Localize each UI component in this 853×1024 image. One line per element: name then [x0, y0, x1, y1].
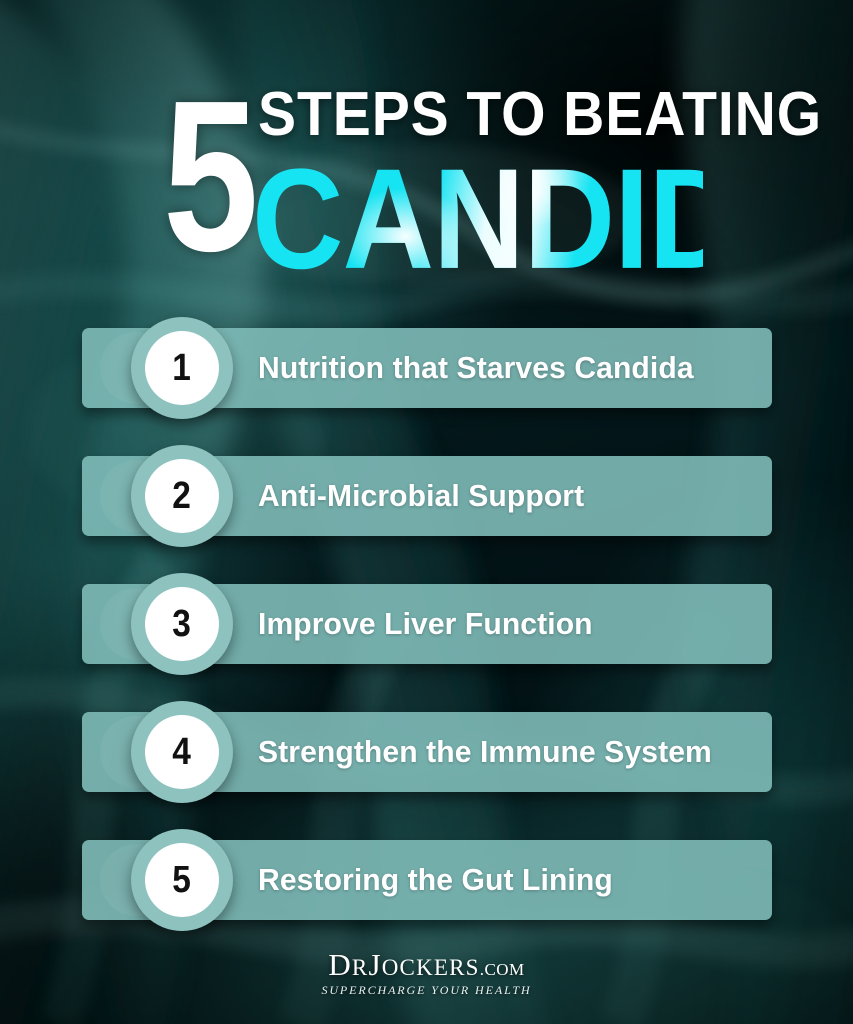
step-row[interactable]: 1 Nutrition that Starves Candida [0, 328, 853, 408]
brand-letters-ockers: OCKERS [382, 955, 480, 980]
step-number: 1 [173, 349, 192, 387]
step-row[interactable]: 4 Strengthen the Immune System [0, 712, 853, 792]
brand-dotcom: .COM [480, 960, 525, 979]
title-block: 5 STEPS TO BEATING CANDIDA [0, 0, 853, 300]
infographic-poster: 5 STEPS TO BEATING CANDIDA 1 Nutrition t… [0, 0, 853, 1024]
brand-letter-j: J [368, 947, 381, 982]
step-number: 4 [173, 733, 192, 771]
footer-logo[interactable]: DRJOCKERS.COM SUPERCHARGE YOUR HEALTH [0, 949, 853, 997]
headline-number-5: 5 [163, 68, 254, 283]
step-badge-inner: 5 [145, 843, 219, 917]
brand-letter-r: R [352, 955, 369, 980]
step-label: Nutrition that Starves Candida [258, 328, 694, 408]
step-label: Improve Liver Function [258, 584, 593, 664]
step-label: Restoring the Gut Lining [258, 840, 613, 920]
headline-line-candida: CANDIDA [252, 148, 703, 291]
step-label: Strengthen the Immune System [258, 712, 712, 792]
headline-line-steps-to-beating: STEPS TO BEATING [258, 84, 822, 146]
step-label: Anti-Microbial Support [258, 456, 584, 536]
step-row[interactable]: 2 Anti-Microbial Support [0, 456, 853, 536]
step-number-badge: 1 [131, 317, 233, 419]
step-badge-inner: 4 [145, 715, 219, 789]
step-number: 3 [173, 605, 192, 643]
step-number-badge: 2 [131, 445, 233, 547]
step-badge-inner: 2 [145, 459, 219, 533]
step-badge-inner: 3 [145, 587, 219, 661]
brand-wordmark: DRJOCKERS.COM [0, 949, 853, 986]
step-badge-inner: 1 [145, 331, 219, 405]
step-number-badge: 3 [131, 573, 233, 675]
steps-list: 1 Nutrition that Starves Candida 2 Anti-… [0, 328, 853, 968]
step-number-badge: 4 [131, 701, 233, 803]
brand-letter-d: D [328, 947, 352, 982]
headline-candida-wrap: CANDIDA [252, 148, 722, 288]
step-row[interactable]: 3 Improve Liver Function [0, 584, 853, 664]
step-number: 2 [173, 477, 192, 515]
step-row[interactable]: 5 Restoring the Gut Lining [0, 840, 853, 920]
step-number-badge: 5 [131, 829, 233, 931]
brand-tagline: SUPERCHARGE YOUR HEALTH [0, 983, 853, 997]
step-number: 5 [173, 861, 192, 899]
